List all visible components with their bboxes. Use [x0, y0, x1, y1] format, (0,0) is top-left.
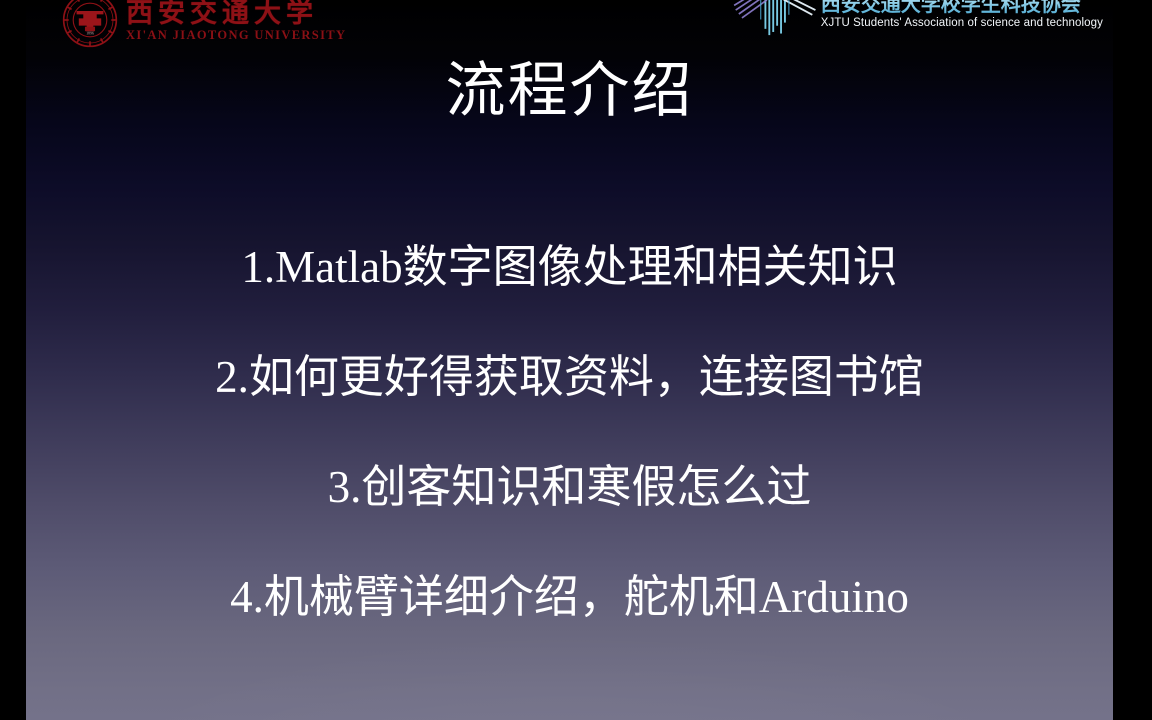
association-chinese-name: 西安交通大学校学生科技协会: [821, 0, 1103, 16]
presentation-slide-viewer: 1896 西安交通大学 XI'AN JIAOTONG UNIVERSITY: [0, 0, 1152, 720]
xjtu-logo-wordmark: 西安交通大学 XI'AN JIAOTONG UNIVERSITY: [126, 1, 346, 44]
list-item: 2.如何更好得获取资料，连接图书馆: [215, 322, 924, 432]
svg-text:1896: 1896: [86, 32, 94, 36]
xjtu-university-logo: 1896 西安交通大学 XI'AN JIAOTONG UNIVERSITY: [62, 0, 346, 48]
list-item: 3.创客知识和寒假怎么过: [328, 432, 812, 542]
slide-content-list: 1.Matlab数字图像处理和相关知识 2.如何更好得获取资料，连接图书馆 3.…: [26, 212, 1113, 652]
list-item: 4.机械臂详细介绍，舵机和Arduino: [230, 542, 909, 652]
xjtu-seal-icon: 1896: [62, 0, 118, 48]
xjtu-chinese-name: 西安交通大学: [126, 1, 346, 27]
student-association-logo: 西安交通大学校学生科技协会 XJTU Students' Association…: [731, 0, 1103, 40]
list-item: 1.Matlab数字图像处理和相关知识: [241, 212, 897, 322]
association-wordmark: 西安交通大学校学生科技协会 XJTU Students' Association…: [821, 0, 1103, 29]
page-title: 流程介绍: [26, 56, 1113, 127]
association-english-name: XJTU Students' Association of science an…: [821, 17, 1103, 29]
letterbox-bar-left: [0, 0, 26, 720]
letterbox-bar-right: [1113, 0, 1152, 720]
association-mark-icon: [731, 0, 817, 40]
slide-canvas: 1896 西安交通大学 XI'AN JIAOTONG UNIVERSITY: [26, 0, 1113, 720]
xjtu-english-name: XI'AN JIAOTONG UNIVERSITY: [126, 28, 346, 43]
